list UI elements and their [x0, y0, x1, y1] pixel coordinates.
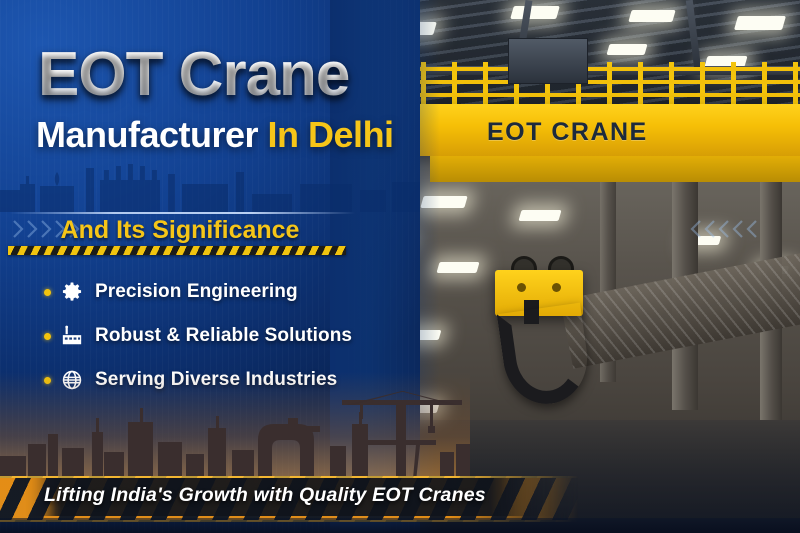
- crane-walkway-railing: [395, 62, 800, 106]
- delhi-monuments-silhouette: [0, 150, 420, 212]
- gear-icon: [60, 280, 84, 304]
- crane-lower-girder: [430, 156, 800, 182]
- footer-tagline: Lifting India's Growth with Quality EOT …: [44, 484, 564, 507]
- page-subtitle-white: Manufacturer: [36, 114, 268, 155]
- ceiling-lamp: [606, 44, 647, 55]
- page-subtitle-highlight: In Delhi: [268, 114, 394, 155]
- page-subtitle: Manufacturer In Delhi: [36, 117, 394, 153]
- delhi-city-skyline-silhouette: [0, 382, 470, 490]
- bullet-dot: [44, 289, 51, 296]
- chevron-left-decoration: [678, 216, 762, 242]
- ceiling-lamp: [510, 6, 560, 19]
- feature-label: Robust & Reliable Solutions: [95, 325, 352, 347]
- factory-icon: [60, 324, 84, 348]
- list-item: Precision Engineering: [44, 274, 374, 310]
- crane-label: EOT CRANE: [487, 118, 657, 147]
- bullet-dot: [44, 333, 51, 340]
- ceiling-lamp: [518, 210, 561, 221]
- list-item: Robust & Reliable Solutions: [44, 318, 374, 354]
- feature-label: Precision Engineering: [95, 281, 298, 303]
- bottom-vignette: [0, 518, 800, 533]
- ceiling-lamp: [734, 16, 786, 30]
- hazard-stripe-divider: [8, 246, 346, 255]
- significance-subtitle: And Its Significance: [0, 216, 360, 245]
- crane-trolley-machinery: [508, 38, 588, 84]
- eot-crane-promo-banner: EOT CRANE: [0, 0, 800, 533]
- ceiling-lamp: [436, 262, 479, 273]
- ceiling-lamp: [628, 10, 675, 22]
- subtitle-top-rule: [10, 212, 355, 214]
- page-title: EOT Crane: [38, 44, 349, 106]
